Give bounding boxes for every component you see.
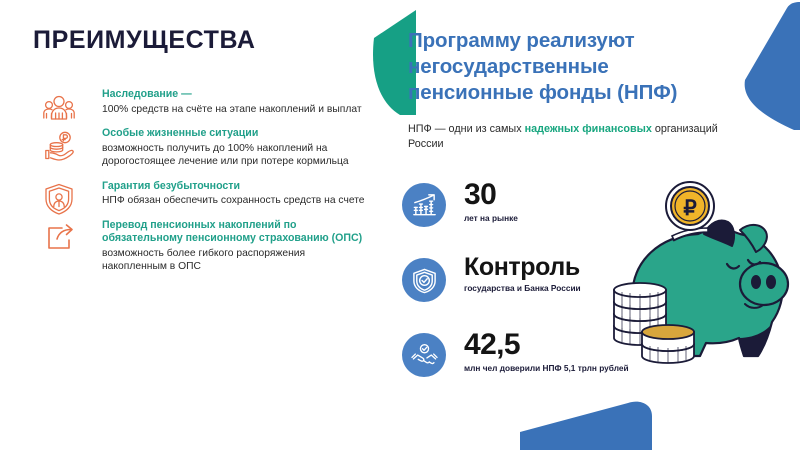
benefit-title: Гарантия безубыточности	[102, 180, 372, 194]
benefit-item: Наследование — 100% средств на счёте на …	[0, 88, 380, 116]
benefit-title: Перевод пенсионных накоплений по обязате…	[102, 219, 372, 246]
stat-badge	[402, 258, 446, 302]
benefit-text: Гарантия безубыточности НПФ обязан обесп…	[102, 180, 372, 208]
benefit-title: Наследование —	[102, 88, 372, 102]
stat-badge	[402, 333, 446, 377]
stat-value: 30	[464, 180, 518, 210]
stat-body: 42,5 млн чел доверили НПФ 5,1 трлн рубле…	[464, 330, 629, 374]
hand-with-coins-icon	[42, 129, 76, 163]
benefit-item: Гарантия безубыточности НПФ обязан обесп…	[0, 180, 380, 208]
shield-person-icon	[42, 182, 76, 216]
slide-root: ПРЕИМУЩЕСТВА Нас	[0, 0, 800, 450]
subtitle-highlight: надежных финансовых	[525, 123, 652, 135]
right-panel-subtitle: НПФ — одни из самых надежных финансовых …	[408, 122, 738, 152]
benefit-description: возможность более гибкого распоряжения н…	[102, 247, 372, 274]
stat-caption: лет на рынке	[464, 213, 518, 224]
left-panel: ПРЕИМУЩЕСТВА Нас	[0, 0, 380, 450]
benefit-title: Особые жизненные ситуации	[102, 127, 372, 141]
ruble-symbol: ₽	[683, 197, 697, 220]
stat-caption: млн чел доверили НПФ 5,1 трлн рублей	[464, 363, 629, 374]
benefit-text: Особые жизненные ситуации возможность по…	[102, 127, 372, 169]
right-panel-heading: Программу реализуют негосударственные пе…	[408, 28, 738, 106]
export-arrow-icon	[42, 221, 76, 255]
stat-badge	[402, 183, 446, 227]
page-title: ПРЕИМУЩЕСТВА	[33, 28, 256, 53]
benefit-item: Перевод пенсионных накоплений по обязате…	[0, 219, 380, 274]
benefit-text: Наследование — 100% средств на счёте на …	[102, 88, 372, 116]
stat-value: Контроль	[464, 255, 581, 280]
benefit-text: Перевод пенсионных накоплений по обязате…	[102, 219, 372, 274]
benefit-description: 100% средств на счёте на этапе накоплени…	[102, 103, 372, 117]
benefit-item: Особые жизненные ситуации возможность по…	[0, 127, 380, 169]
handshake-check-icon	[411, 342, 438, 369]
family-group-icon	[42, 90, 76, 124]
shield-check-icon	[411, 267, 438, 294]
benefit-description: возможность получить до 100% накоплений …	[102, 142, 372, 169]
growth-chart-icon	[411, 192, 438, 219]
benefit-description: НПФ обязан обеспечить сохранность средст…	[102, 194, 372, 208]
stat-body: 30 лет на рынке	[464, 180, 518, 224]
stat-body: Контроль государства и Банка России	[464, 255, 581, 294]
piggy-bank-with-coins: ₽	[612, 178, 800, 408]
benefits-list: Наследование — 100% средств на счёте на …	[0, 88, 380, 285]
stat-value: 42,5	[464, 330, 629, 360]
stat-caption: государства и Банка России	[464, 283, 581, 294]
subtitle-part-1: НПФ — одни из самых	[408, 123, 525, 135]
